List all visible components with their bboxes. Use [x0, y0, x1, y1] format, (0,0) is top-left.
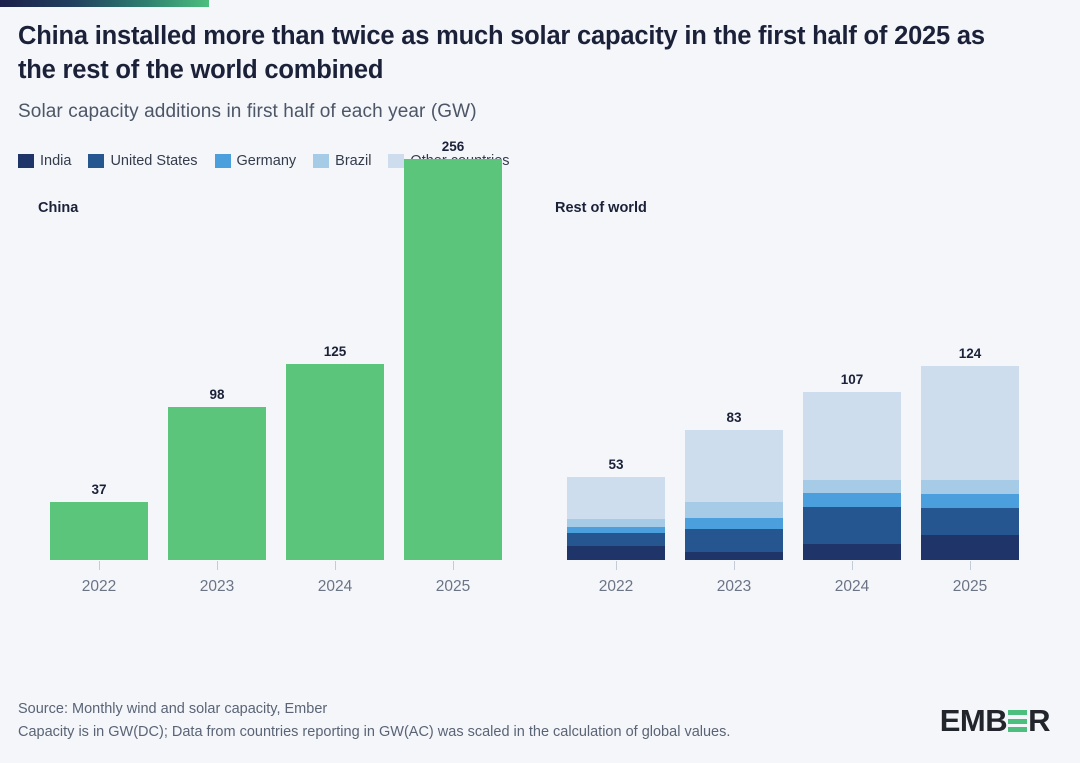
bar-segment-brazil: [803, 480, 901, 493]
bar-segment-brazil: [921, 480, 1019, 494]
legend-swatch-icon: [88, 154, 104, 168]
panel-label-rest-of-world: Rest of world: [555, 200, 647, 216]
bar-segment-brazil: [567, 519, 665, 527]
bar-segment-china: [168, 407, 266, 561]
x-axis-label-2024: 2024: [835, 578, 869, 596]
bar-segment-germany: [921, 494, 1019, 508]
bar-rest-of-world-2025[interactable]: 124: [921, 366, 1019, 560]
bar-value-label: 124: [921, 346, 1019, 366]
bar-segment-united-states: [567, 533, 665, 546]
bar-segment-other-countries: [567, 477, 665, 519]
bar-segment-other-countries: [685, 430, 783, 502]
bar-value-label: 98: [168, 387, 266, 407]
bar-value-label: 53: [567, 457, 665, 477]
x-axis-tick: [453, 561, 454, 570]
brand-gradient-bar: [0, 0, 209, 7]
x-axis-tick: [734, 561, 735, 570]
bar-value-label: 256: [404, 139, 502, 159]
bar-rest-of-world-2022[interactable]: 53: [567, 477, 665, 560]
chart-footer: Source: Monthly wind and solar capacity,…: [18, 698, 1062, 743]
x-axis-label-2022: 2022: [82, 578, 116, 596]
logo-text-emb: EMB: [940, 703, 1007, 739]
ember-logo: EMB R: [940, 703, 1050, 739]
bar-segment-india: [685, 552, 783, 560]
panel-label-china: China: [38, 200, 78, 216]
legend-swatch-icon: [18, 154, 34, 168]
chart-header: China installed more than twice as much …: [18, 20, 1028, 123]
bar-segment-united-states: [685, 529, 783, 552]
bar-segment-china: [286, 364, 384, 560]
bar-segment-india: [803, 544, 901, 560]
bar-value-label: 107: [803, 372, 901, 392]
legend-item[interactable]: Germany: [215, 153, 297, 169]
logo-text-r: R: [1028, 703, 1050, 739]
x-axis-label-2025: 2025: [436, 578, 470, 596]
bar-china-2024[interactable]: 125: [286, 364, 384, 560]
bar-segment-other-countries: [921, 366, 1019, 480]
source-note: Source: Monthly wind and solar capacity,…: [18, 698, 730, 743]
bar-china-2022[interactable]: 37: [50, 502, 148, 560]
legend-swatch-icon: [388, 154, 404, 168]
legend-swatch-icon: [313, 154, 329, 168]
page-title: China installed more than twice as much …: [18, 20, 1008, 88]
chart-subtitle: Solar capacity additions in first half o…: [18, 101, 1028, 123]
legend-item[interactable]: India: [18, 153, 71, 169]
bar-value-label: 83: [685, 410, 783, 430]
bar-segment-germany: [685, 518, 783, 529]
logo-e-icon: [1008, 710, 1027, 732]
bar-segment-united-states: [803, 507, 901, 545]
x-axis-tick: [970, 561, 971, 570]
bar-segment-india: [567, 546, 665, 560]
bar-value-label: 37: [50, 482, 148, 502]
bar-rest-of-world-2023[interactable]: 83: [685, 430, 783, 560]
bar-china-2025[interactable]: 256: [404, 159, 502, 560]
bar-segment-brazil: [685, 502, 783, 518]
chart-plot-area: China Rest of world 37202298202312520242…: [0, 190, 1080, 670]
legend-item-label: United States: [110, 153, 197, 169]
x-axis-label-2024: 2024: [318, 578, 352, 596]
source-line-2: Capacity is in GW(DC); Data from countri…: [18, 721, 730, 743]
x-axis-label-2023: 2023: [200, 578, 234, 596]
x-axis-tick: [335, 561, 336, 570]
bar-segment-china: [404, 159, 502, 560]
bar-rest-of-world-2024[interactable]: 107: [803, 392, 901, 560]
x-axis-label-2025: 2025: [953, 578, 987, 596]
bar-segment-other-countries: [803, 392, 901, 480]
legend-item-label: Brazil: [335, 153, 371, 169]
x-axis-tick: [616, 561, 617, 570]
legend-item-label: Germany: [237, 153, 297, 169]
x-axis-tick: [852, 561, 853, 570]
bar-segment-india: [921, 535, 1019, 560]
bar-value-label: 125: [286, 344, 384, 364]
x-axis-label-2022: 2022: [599, 578, 633, 596]
bar-segment-china: [50, 502, 148, 560]
legend-item-label: India: [40, 153, 71, 169]
legend-item[interactable]: Brazil: [313, 153, 371, 169]
legend-swatch-icon: [215, 154, 231, 168]
legend-item[interactable]: United States: [88, 153, 197, 169]
source-line-1: Source: Monthly wind and solar capacity,…: [18, 698, 730, 720]
bar-segment-germany: [803, 493, 901, 507]
x-axis-tick: [217, 561, 218, 570]
bar-china-2023[interactable]: 98: [168, 407, 266, 561]
bar-segment-united-states: [921, 508, 1019, 535]
x-axis-label-2023: 2023: [717, 578, 751, 596]
x-axis-tick: [99, 561, 100, 570]
